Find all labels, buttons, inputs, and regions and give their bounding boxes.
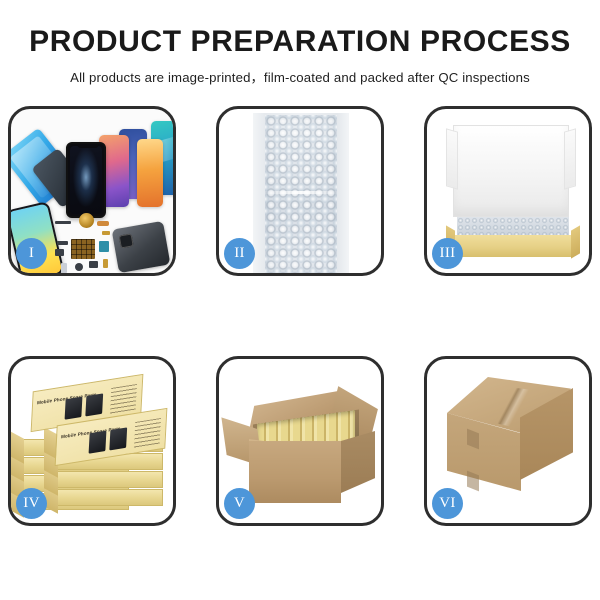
step-badge-1: I (16, 238, 47, 269)
bubble-wrap-bubbles (265, 115, 337, 273)
process-step-1: I (8, 106, 176, 276)
sealed-carton (439, 377, 585, 513)
carton-side-face (341, 431, 375, 493)
part-connector (102, 231, 110, 235)
step-badge-5: V (224, 488, 255, 519)
bubble-wrap-sleeve (253, 113, 349, 273)
process-step-6: VI (424, 356, 592, 526)
bubble-wrapped-contents (457, 217, 569, 237)
spare-parts-cluster (55, 219, 125, 273)
box-label-image (89, 431, 107, 454)
step-badge-2: II (224, 238, 255, 269)
black-screen-phone (66, 142, 106, 218)
step-badge-6: VI (432, 488, 463, 519)
stacked-box (55, 489, 163, 506)
step-badge-4: IV (16, 488, 47, 519)
process-step-3: III (424, 106, 592, 276)
box-label-image (85, 393, 103, 416)
phone-wallpaper (70, 146, 102, 214)
box-label-image (65, 397, 83, 420)
bubble-wrap-seam (265, 191, 337, 194)
process-step-4: Mobile Phone Spare Parts Mobile Phone Sp… (8, 356, 176, 526)
part-flex-cable (97, 221, 109, 226)
product-preparation-infographic: PRODUCT PREPARATION PROCESS All products… (0, 0, 600, 600)
copper-coil-part (79, 213, 94, 228)
process-step-2: II (216, 106, 384, 276)
part-strip (55, 221, 71, 224)
process-step-5: V (216, 356, 384, 526)
box-label-text-lines (134, 418, 161, 449)
yellow-box-base (453, 235, 573, 257)
header: PRODUCT PREPARATION PROCESS All products… (0, 0, 600, 86)
orange-phone (137, 139, 163, 207)
box-label-text-lines (110, 384, 137, 415)
part-board (99, 241, 109, 252)
part-camera (89, 261, 98, 268)
process-step-grid: I II III (8, 106, 592, 526)
page-title: PRODUCT PREPARATION PROCESS (0, 26, 600, 58)
part-sim-tray (61, 263, 67, 273)
white-box-lid (453, 125, 569, 217)
stacked-box (55, 471, 163, 488)
chip-array-part (71, 239, 95, 259)
part-speaker (75, 263, 83, 271)
part-clip (55, 249, 64, 256)
carton-front-face (249, 441, 341, 503)
page-subtitle: All products are image-printed，film-coat… (0, 67, 600, 86)
part-bracket (57, 241, 68, 245)
step-badge-3: III (432, 238, 463, 269)
part-screw-set (103, 259, 108, 268)
box-label-image (109, 427, 127, 450)
